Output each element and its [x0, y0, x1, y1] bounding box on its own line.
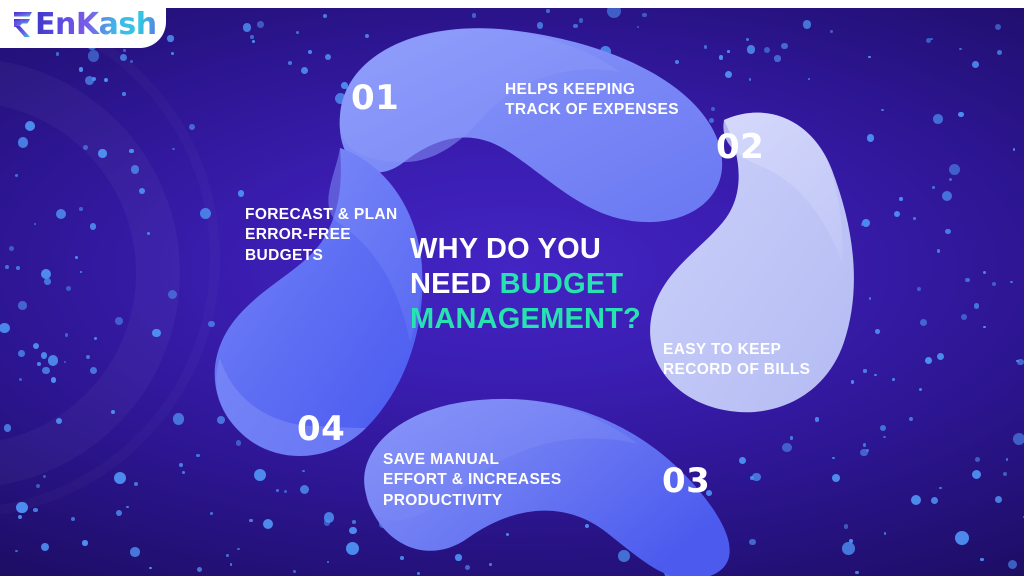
starfield-dot — [44, 278, 51, 285]
starfield-dot — [949, 164, 960, 175]
starfield-dot — [992, 282, 996, 286]
starfield-dot — [19, 378, 22, 381]
starfield-dot — [37, 362, 41, 366]
starfield-dot — [129, 149, 133, 153]
starfield-dot — [80, 271, 83, 274]
starfield-dot — [197, 567, 202, 572]
starfield-dot — [90, 367, 97, 374]
starfield-dot — [1013, 433, 1024, 445]
starfield-dot — [90, 223, 96, 229]
starfield-dot — [94, 337, 97, 340]
starfield-dot — [83, 145, 88, 150]
starfield-dot — [830, 30, 833, 33]
starfield-dot — [56, 209, 67, 220]
starfield-dot — [34, 223, 36, 225]
starfield-dot — [4, 424, 12, 432]
starfield-dot — [937, 353, 944, 360]
starfield-dot — [1010, 281, 1012, 283]
starfield-dot — [88, 50, 99, 61]
title-line-3: MANAGEMENT? — [410, 302, 675, 337]
starfield-dot — [913, 217, 916, 220]
starfield-dot — [983, 326, 985, 328]
logo-text: EnKash — [35, 7, 157, 42]
starfield-dot — [42, 367, 50, 375]
starfield-dot — [983, 271, 986, 274]
starfield-dot — [15, 174, 18, 177]
starfield-dot — [909, 417, 913, 421]
starfield-dot — [323, 14, 327, 18]
starfield-dot — [1013, 148, 1016, 151]
starfield-dot — [56, 52, 60, 56]
starfield-dot — [949, 178, 952, 181]
starfield-dot-large — [41, 269, 51, 279]
starfield-dot — [126, 506, 129, 509]
starfield-dot — [122, 92, 125, 95]
starfield-dot — [152, 329, 161, 338]
starfield-dot — [18, 515, 22, 519]
starfield-dot — [18, 350, 25, 357]
page-title: WHY DO YOU NEED BUDGET MANAGEMENT? — [410, 232, 675, 337]
starfield-dot — [892, 378, 895, 381]
starfield-dot — [842, 542, 855, 555]
starfield-dot — [790, 436, 794, 440]
starfield-dot — [296, 31, 299, 34]
item-label-03: SAVE MANUAL EFFORT & INCREASES PRODUCTIV… — [383, 450, 613, 511]
starfield-dot — [937, 249, 940, 252]
starfield-dot — [920, 319, 927, 326]
starfield-dot — [179, 463, 183, 467]
starfield-dot — [82, 540, 88, 546]
title-line-1: WHY DO YOU — [410, 232, 675, 267]
starfield-dot — [252, 40, 255, 43]
starfield-dot — [254, 469, 266, 481]
starfield-dot — [116, 510, 122, 516]
starfield-dot — [749, 78, 751, 80]
starfield-dot — [86, 355, 90, 359]
item-number-02: 02 — [716, 127, 764, 167]
title-line-2: NEED BUDGET — [410, 267, 675, 302]
starfield-dot — [104, 78, 108, 82]
starfield-dot — [926, 38, 931, 43]
starfield-dot — [66, 286, 71, 291]
starfield-dot — [917, 287, 921, 291]
starfield-dot — [782, 443, 791, 452]
starfield-dot — [15, 550, 18, 553]
starfield-dot — [168, 290, 177, 299]
starfield-dot-large — [955, 531, 969, 545]
starfield-dot — [894, 211, 900, 217]
starfield-dot — [764, 47, 770, 53]
infographic-canvas: 01 02 03 04 HELPS KEEPING TRACK OF EXPEN… — [0, 0, 1024, 576]
starfield-dot — [932, 186, 935, 189]
starfield-dot — [230, 563, 232, 565]
item-label-02: EASY TO KEEP RECORD OF BILLS — [663, 340, 863, 381]
starfield-dot — [243, 23, 251, 31]
starfield-dot-large — [263, 519, 273, 529]
starfield-dot — [747, 45, 756, 54]
starfield-dot — [1003, 472, 1007, 476]
starfield-dot — [939, 487, 941, 489]
starfield-dot — [942, 191, 953, 202]
starfield-dot — [18, 137, 29, 148]
starfield-dot — [849, 539, 853, 543]
starfield-dot — [250, 35, 254, 39]
starfield-dot — [64, 361, 66, 363]
starfield-dot — [1016, 360, 1018, 362]
starfield-dot — [33, 508, 38, 513]
starfield-dot — [249, 519, 253, 523]
item-number-01: 01 — [351, 78, 399, 118]
starfield-dot-large — [911, 495, 921, 505]
starfield-dot — [257, 21, 264, 28]
starfield-dot — [899, 197, 902, 200]
starfield-dot — [980, 558, 983, 561]
starfield-dot — [5, 265, 9, 269]
starfield-dot — [995, 24, 1001, 30]
starfield-dot — [832, 457, 835, 460]
starfield-dot — [120, 54, 127, 61]
item-number-04: 04 — [297, 409, 345, 449]
starfield-dot — [130, 547, 140, 557]
starfield-dot — [1006, 458, 1008, 460]
starfield-dot-large — [114, 472, 126, 484]
starfield-dot — [881, 109, 884, 112]
starfield-dot — [92, 77, 96, 81]
starfield-dot — [931, 497, 938, 504]
starfield-dot — [803, 20, 811, 28]
starfield-dot — [284, 490, 287, 493]
starfield-dot — [147, 232, 150, 235]
starfield-dot — [115, 317, 123, 325]
starfield-dot — [171, 52, 174, 55]
starfield-dot — [868, 56, 871, 59]
starfield-dot — [167, 35, 173, 41]
starfield-dot — [975, 457, 980, 462]
starfield-dot — [808, 78, 811, 81]
starfield-dot — [972, 61, 979, 68]
starfield-dot — [855, 571, 859, 575]
starfield-dot — [642, 13, 647, 18]
starfield-dot-large — [972, 470, 981, 479]
starfield-dot — [56, 418, 62, 424]
starfield-dot — [65, 333, 68, 336]
starfield-dot — [959, 48, 962, 51]
starfield-dot — [961, 314, 967, 320]
starfield-dot — [607, 8, 621, 18]
starfield-dot — [327, 561, 329, 563]
starfield-dot — [945, 229, 951, 235]
starfield-dot — [210, 512, 213, 515]
starfield-dot — [276, 489, 279, 492]
starfield-dot — [41, 543, 49, 551]
starfield-dot — [579, 18, 583, 22]
starfield-dot — [863, 443, 867, 447]
starfield-dot — [149, 567, 152, 570]
title-line-2-plain: NEED — [410, 268, 500, 300]
starfield-dot — [79, 207, 83, 211]
starfield-dot — [884, 532, 887, 535]
starfield-dot — [16, 502, 27, 513]
starfield-dot — [866, 449, 869, 452]
title-line-2-accent: BUDGET — [500, 268, 624, 300]
starfield-dot — [182, 471, 185, 474]
starfield-dot — [139, 188, 145, 194]
starfield-dot-large — [25, 121, 35, 131]
starfield-dot — [749, 539, 756, 546]
starfield-dot — [75, 256, 78, 259]
brand-logo-panel[interactable]: EnKash — [0, 0, 166, 48]
rupee-e-mark-icon — [12, 9, 34, 39]
starfield-dot — [48, 355, 58, 365]
starfield-dot — [130, 60, 133, 63]
starfield-dot — [134, 482, 138, 486]
starfield-dot — [43, 475, 47, 479]
starfield-dot — [919, 388, 922, 391]
starfield-dot — [958, 112, 964, 118]
starfield-dot — [111, 410, 115, 414]
starfield-dot — [41, 352, 47, 358]
starfield-dot — [774, 55, 780, 61]
starfield-dot — [781, 43, 787, 49]
starfield-dot — [995, 496, 1002, 503]
starfield-dot — [997, 50, 1002, 55]
starfield-dot — [300, 485, 309, 494]
starfield-dot — [189, 124, 195, 130]
starfield-dot — [16, 266, 20, 270]
starfield-dot — [752, 473, 760, 481]
starfield-dot — [933, 114, 943, 124]
starfield-dot — [472, 13, 476, 17]
starfield-dot — [293, 570, 296, 573]
starfield-dot-large — [832, 474, 840, 482]
starfield-dot — [33, 343, 39, 349]
logo-wrap: EnKash — [12, 7, 157, 41]
item-label-01: HELPS KEEPING TRACK OF EXPENSES — [505, 80, 735, 121]
starfield-dot — [9, 246, 14, 251]
starfield-dot — [51, 377, 56, 382]
starfield-dot — [79, 67, 84, 72]
starfield-dot — [71, 517, 75, 521]
starfield-dot — [844, 524, 848, 528]
starfield-dot — [173, 413, 185, 425]
starfield-dot — [302, 470, 305, 473]
starfield-dot — [172, 148, 174, 150]
starfield-dot — [546, 9, 549, 12]
starfield-dot — [883, 436, 885, 438]
starfield-dot — [1008, 560, 1017, 569]
starfield-dot — [746, 38, 749, 41]
starfield-dot — [36, 484, 40, 488]
starfield-dot — [226, 554, 229, 557]
item-number-03: 03 — [662, 461, 710, 501]
starfield-dot — [0, 323, 10, 334]
starfield-dot — [131, 165, 139, 173]
starfield-dot — [237, 548, 239, 550]
starfield-dot — [288, 61, 292, 65]
starfield-dot — [98, 149, 106, 157]
starfield-dot — [123, 49, 126, 52]
starfield-dot — [925, 357, 932, 364]
starfield-dot — [974, 303, 980, 309]
starfield-dot — [965, 278, 970, 283]
starfield-dot — [880, 425, 886, 431]
starfield-dot — [18, 301, 26, 309]
